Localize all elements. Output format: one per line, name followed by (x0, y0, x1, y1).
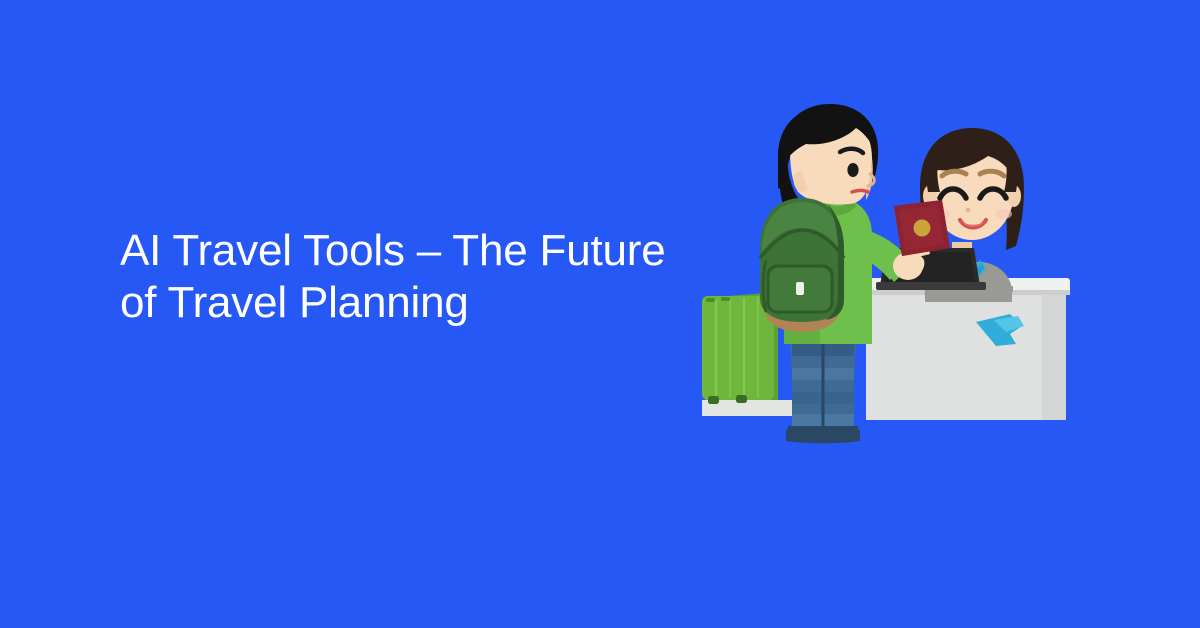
airport-check-in-illustration (680, 100, 1100, 460)
page-title: AI Travel Tools – The Future of Travel P… (120, 225, 700, 329)
backpack (760, 198, 844, 332)
check-in-scene-svg (680, 100, 1100, 460)
passport (894, 200, 950, 256)
jeans (786, 338, 860, 443)
blog-header-banner: AI Travel Tools – The Future of Travel P… (0, 0, 1200, 628)
